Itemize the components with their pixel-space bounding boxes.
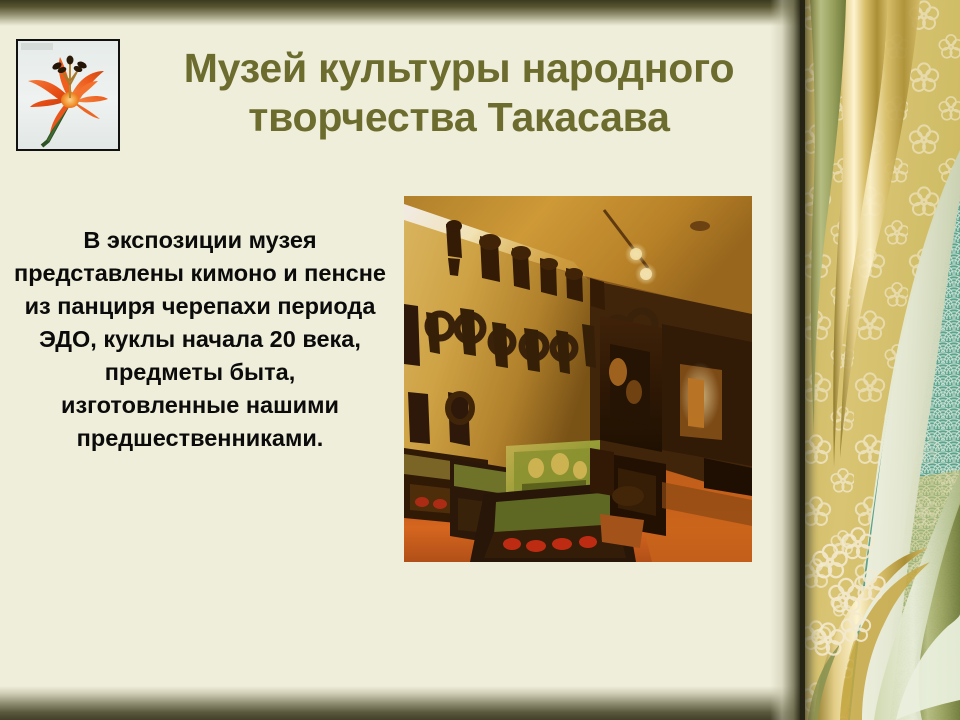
orange-lily-photo — [16, 39, 120, 151]
page-title: Музей культуры народного творчества Така… — [125, 44, 793, 142]
japanese-ribbon-border — [800, 0, 960, 720]
museum-interior-photo — [404, 196, 752, 562]
top-shadow-band — [0, 0, 800, 26]
presentation-slide: Музей культуры народного творчества Така… — [0, 0, 960, 720]
slide-canvas: Музей культуры народного творчества Така… — [0, 0, 800, 720]
bottom-shadow-band — [0, 686, 800, 720]
slide-body-text: В экспозиции музея представлены кимоно и… — [14, 224, 386, 455]
slide-header: Музей культуры народного творчества Така… — [0, 30, 800, 160]
